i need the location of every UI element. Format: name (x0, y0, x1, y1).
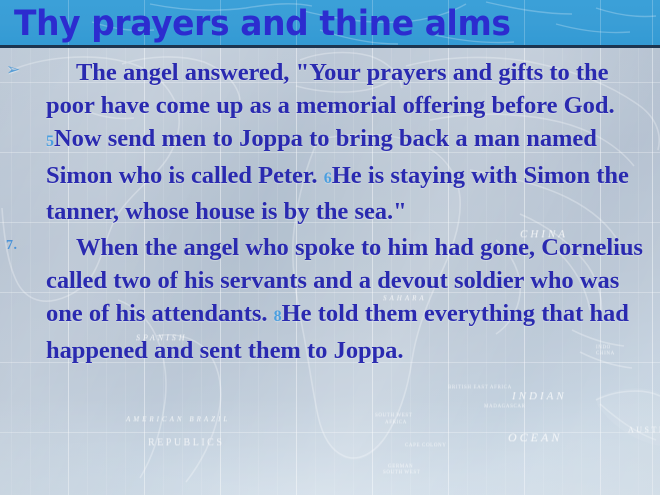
map-label-german-south-west: SOUTH WEST (383, 470, 420, 475)
slide-title: Thy prayers and thine alms (14, 1, 511, 47)
map-label-cape-colony: CAPE COLONY (405, 443, 446, 448)
list-marker-7: 7. (6, 231, 40, 260)
paragraph-1-text: The angel answered, "Your prayers and gi… (46, 59, 629, 225)
map-label-south-west: SOUTH WEST (375, 413, 412, 418)
map-label-africa: AFRICA (385, 420, 407, 425)
map-label-republics: REPUBLICS (148, 437, 224, 448)
map-label-british-east-africa: BRITISH EAST AFRICA (448, 385, 512, 390)
map-label-american-brazil: AMERICAN BRAZIL (126, 415, 230, 423)
verse-number-6: 6 (324, 170, 332, 187)
list-item-number: 7. (6, 231, 18, 260)
title-banner: Thy prayers and thine alms (0, 0, 660, 48)
map-label-german: GERMAN (388, 464, 413, 469)
map-label-ocean: OCEAN (508, 430, 562, 445)
verse-number-8: 8 (274, 308, 282, 325)
map-label-australia: AUSTR (628, 425, 660, 434)
slide-body: ➢ The angel answered, "Your prayers and … (0, 56, 660, 367)
slide: CHINA REPUBLICS OCEAN INDIAN AUSTR MADAG… (0, 0, 660, 495)
map-label-indian: INDIAN (512, 390, 567, 402)
arrow-bullet-icon: ➢ (6, 56, 20, 83)
run-text: The angel answered, "Your prayers and gi… (46, 59, 615, 119)
bullet-marker-1: ➢ (6, 56, 40, 83)
verse-number-5: 5 (46, 133, 54, 150)
map-label-madagascar: MADAGASCAR (484, 404, 526, 409)
paragraph-2-text: When the angel who spoke to him had gone… (46, 234, 643, 364)
paragraph-2: 7. When the angel who spoke to him had g… (0, 231, 660, 367)
paragraph-1: ➢ The angel answered, "Your prayers and … (0, 56, 660, 228)
